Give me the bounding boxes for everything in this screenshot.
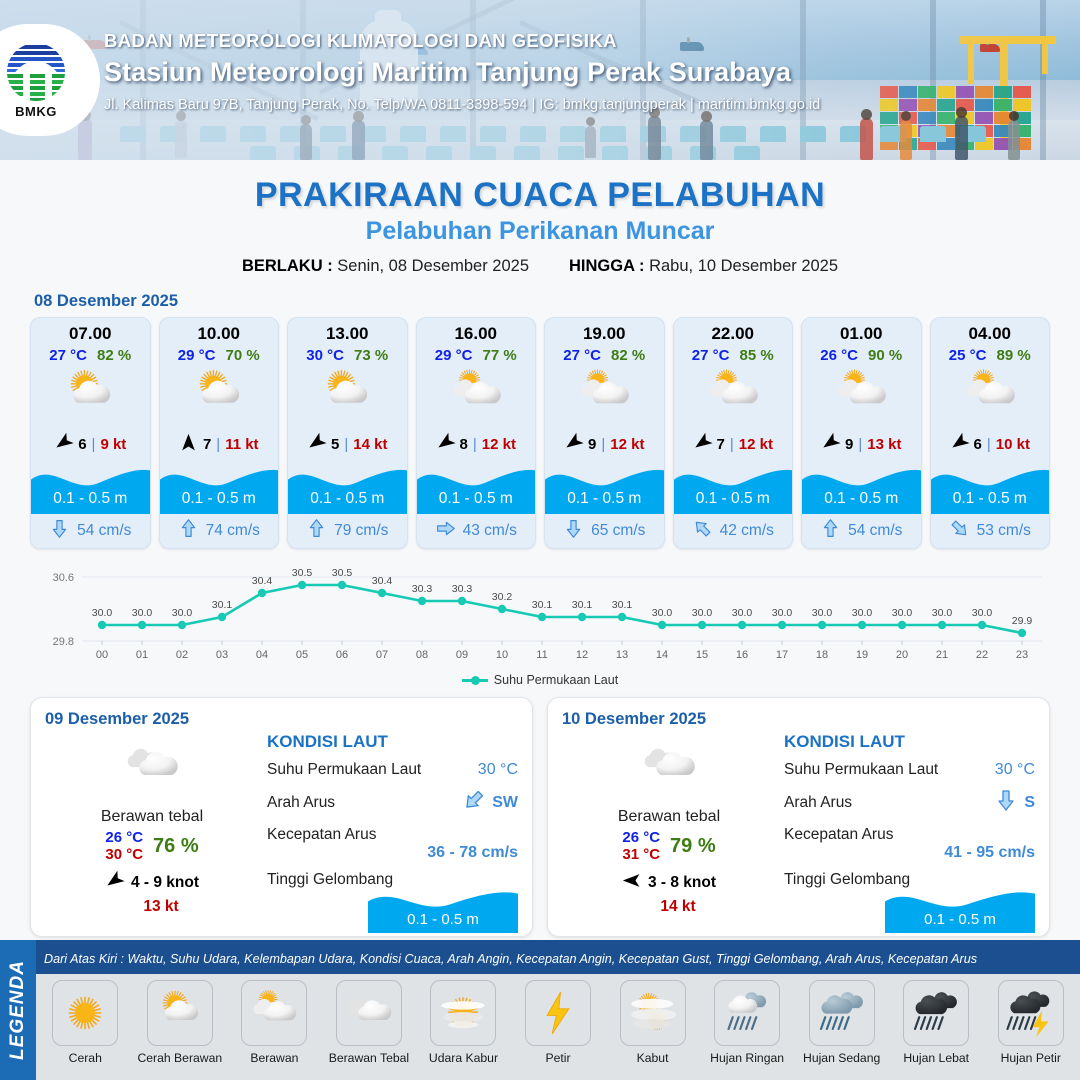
legend-item-label: Hujan Sedang: [803, 1051, 880, 1065]
svg-text:29.9: 29.9: [1012, 615, 1033, 627]
daily-humidity: 79 %: [670, 835, 716, 858]
svg-text:30.0: 30.0: [132, 607, 153, 619]
svg-text:30.2: 30.2: [492, 591, 513, 603]
current-direction-arrow-icon: [820, 518, 841, 544]
card-temp-hum: 26 °C 90 %: [802, 344, 921, 364]
sst-label: Suhu Permukaan Laut: [784, 761, 938, 779]
svg-text:30.3: 30.3: [412, 583, 433, 595]
card-wind-row: 9 | 13 kt: [802, 426, 921, 462]
legend-item: Hujan Sedang: [796, 980, 887, 1065]
card-wind-speed: 5: [331, 436, 339, 453]
card-time: 10.00: [160, 318, 279, 344]
card-wave: 0.1 - 0.5 m: [674, 462, 793, 514]
svg-text:29.8: 29.8: [53, 636, 74, 648]
card-current-speed: 42 cm/s: [720, 522, 774, 540]
svg-text:02: 02: [176, 649, 188, 661]
title-block: PRAKIRAAN CUACA PELABUHAN Pelabuhan Peri…: [0, 176, 1080, 276]
cerah-berawan-icon: [160, 364, 279, 426]
card-time: 19.00: [545, 318, 664, 344]
chart-legend-label: Suhu Permukaan Laut: [494, 673, 618, 687]
card-time: 07.00: [31, 318, 150, 344]
berawan-tebal-icon: [47, 736, 257, 798]
card-current-row: 54 cm/s: [802, 514, 921, 548]
card-current-row: 54 cm/s: [31, 514, 150, 548]
daily-temp-max: 30 °C: [105, 846, 143, 863]
svg-text:13: 13: [616, 649, 628, 661]
daily-panel: 09 Desember 2025 Berawan tebal 26 °C 30 …: [30, 697, 533, 937]
svg-text:15: 15: [696, 649, 708, 661]
current-direction-row: Arah Arus S: [784, 788, 1035, 817]
sst-row: Suhu Permukaan Laut 30 °C: [267, 761, 518, 779]
daily-date: 09 Desember 2025: [45, 710, 518, 729]
daily-sea-conditions: KONDISI LAUT Suhu Permukaan Laut 30 °C A…: [784, 732, 1035, 933]
legend-item-label: Berawan: [250, 1051, 298, 1065]
svg-text:04: 04: [256, 649, 268, 661]
berawan-icon: [931, 364, 1050, 426]
svg-text:00: 00: [96, 649, 108, 661]
svg-text:30.0: 30.0: [972, 607, 993, 619]
hourly-card: 04.00 25 °C 89 % 6 | 10 kt: [930, 317, 1051, 549]
svg-text:30.0: 30.0: [92, 607, 113, 619]
card-gust: 12 kt: [610, 436, 644, 453]
card-wind-row: 7 | 11 kt: [160, 426, 279, 462]
daily-humidity: 76 %: [153, 835, 199, 858]
current-direction-value: S: [1024, 794, 1035, 812]
svg-text:30.0: 30.0: [852, 607, 873, 619]
card-temp-hum: 27 °C 82 %: [545, 344, 664, 364]
hourly-card: 22.00 27 °C 85 % 7 | 12 kt: [673, 317, 794, 549]
legend-item-label: Hujan Ringan: [710, 1051, 784, 1065]
legend-item: Cerah Berawan: [135, 980, 226, 1065]
daily-temp-min: 26 °C: [622, 829, 660, 846]
card-temp-hum: 27 °C 82 %: [31, 344, 150, 364]
legend-items-row: Cerah Cerah Berawan: [36, 974, 1080, 1080]
svg-text:30.0: 30.0: [892, 607, 913, 619]
petir-icon: [525, 980, 591, 1046]
sst-value: 30 °C: [478, 761, 518, 779]
card-current-row: 43 cm/s: [417, 514, 536, 548]
card-current-row: 53 cm/s: [931, 514, 1050, 548]
legend-note: Dari Atas Kiri : Waktu, Suhu Udara, Kele…: [40, 946, 1076, 972]
hujan-petir-icon: [998, 980, 1064, 1046]
card-time: 04.00: [931, 318, 1050, 344]
card-wind-separator: |: [858, 436, 862, 453]
card-current-speed: 74 cm/s: [206, 522, 260, 540]
current-speed-value: 36 - 78 cm/s: [427, 844, 518, 862]
svg-text:30.4: 30.4: [372, 575, 393, 587]
card-temperature: 29 °C: [178, 347, 216, 364]
hourly-card: 13.00 30 °C 73 % 5 | 14 kt: [287, 317, 408, 549]
card-wind-separator: |: [92, 436, 96, 453]
card-temp-hum: 30 °C 73 %: [288, 344, 407, 364]
svg-text:30.1: 30.1: [572, 599, 593, 611]
svg-text:30.1: 30.1: [212, 599, 233, 611]
card-current-speed: 54 cm/s: [77, 522, 131, 540]
legend-item-label: Hujan Petir: [1001, 1051, 1061, 1065]
card-wave: 0.1 - 0.5 m: [288, 462, 407, 514]
current-speed-row: Kecepatan Arus: [267, 826, 518, 844]
valid-to-value: Rabu, 10 Desember 2025: [649, 257, 838, 275]
card-gust: 12 kt: [482, 436, 516, 453]
daily-condition: Berawan tebal: [47, 808, 257, 826]
card-humidity: 82 %: [611, 347, 645, 364]
card-wind-separator: |: [987, 436, 991, 453]
hujan-sedang-icon: [809, 980, 875, 1046]
card-gust: 12 kt: [739, 436, 773, 453]
bmkg-logo-text: BMKG: [15, 104, 57, 119]
svg-text:08: 08: [416, 649, 428, 661]
card-wind-separator: |: [473, 436, 477, 453]
svg-text:07: 07: [376, 649, 388, 661]
svg-text:21: 21: [936, 649, 948, 661]
legend-item: Petir: [513, 980, 604, 1065]
card-temp-hum: 29 °C 70 %: [160, 344, 279, 364]
card-wave: 0.1 - 0.5 m: [417, 462, 536, 514]
current-direction-arrow-icon: [563, 518, 584, 544]
card-humidity: 90 %: [868, 347, 902, 364]
card-gust: 13 kt: [867, 436, 901, 453]
card-current-speed: 79 cm/s: [334, 522, 388, 540]
page-title: PRAKIRAAN CUACA PELABUHAN: [0, 176, 1080, 215]
sea-condition-title: KONDISI LAUT: [267, 732, 518, 752]
current-speed-value-row: 41 - 95 cm/s: [784, 844, 1035, 862]
card-humidity: 89 %: [996, 347, 1030, 364]
card-wave: 0.1 - 0.5 m: [160, 462, 279, 514]
card-wind-speed: 9: [588, 436, 596, 453]
card-temperature: 26 °C: [820, 347, 858, 364]
legend-item-label: Hujan Lebat: [903, 1051, 969, 1065]
sea-condition-title: KONDISI LAUT: [784, 732, 1035, 752]
daily-wave-box: 0.1 - 0.5 m: [885, 885, 1035, 933]
current-direction-arrow-icon: [692, 518, 713, 544]
legend-item-label: Cerah Berawan: [137, 1051, 222, 1065]
current-direction-arrow-icon: [435, 518, 456, 544]
valid-from-label: BERLAKU :: [242, 257, 333, 275]
hujan-lebat-icon: [903, 980, 969, 1046]
sst-row: Suhu Permukaan Laut 30 °C: [784, 761, 1035, 779]
daily-temp-max: 31 °C: [622, 846, 660, 863]
svg-text:20: 20: [896, 649, 908, 661]
current-direction-value-group: SW: [462, 788, 518, 817]
current-speed-value: 41 - 95 cm/s: [944, 844, 1035, 862]
card-temperature: 27 °C: [692, 347, 730, 364]
current-direction-arrow-icon: [994, 788, 1018, 817]
daily-wave-box: 0.1 - 0.5 m: [368, 885, 518, 933]
svg-text:03: 03: [216, 649, 228, 661]
station-name: Stasiun Meteorologi Maritim Tanjung Pera…: [104, 57, 820, 88]
wind-direction-arrow-icon: [307, 433, 326, 456]
card-wave-height: 0.1 - 0.5 m: [545, 490, 664, 508]
svg-text:19: 19: [856, 649, 868, 661]
daily-wind-row: 3 - 8 knot: [564, 871, 774, 895]
current-speed-value-row: 36 - 78 cm/s: [267, 844, 518, 862]
current-direction-arrow-icon: [49, 518, 70, 544]
bmkg-logo-mark: [5, 41, 67, 103]
card-wind-speed: 9: [845, 436, 853, 453]
daily-temp-min: 26 °C: [105, 829, 143, 846]
contact-line: Jl. Kalimas Baru 97B, Tanjung Perak, No.…: [104, 97, 820, 113]
valid-from: BERLAKU : Senin, 08 Desember 2025: [242, 257, 529, 276]
card-wind-row: 7 | 12 kt: [674, 426, 793, 462]
daily-gust: 14 kt: [564, 898, 774, 916]
current-direction-arrow-icon: [949, 518, 970, 544]
svg-text:23: 23: [1016, 649, 1028, 661]
berawan-icon: [417, 364, 536, 426]
card-wind-row: 6 | 9 kt: [31, 426, 150, 462]
card-wind-speed: 6: [974, 436, 982, 453]
berawan-tebal-icon: [564, 736, 774, 798]
card-wind-separator: |: [216, 436, 220, 453]
wind-direction-arrow-icon: [436, 433, 455, 456]
svg-text:30.1: 30.1: [612, 599, 633, 611]
card-wave: 0.1 - 0.5 m: [931, 462, 1050, 514]
card-temp-hum: 29 °C 77 %: [417, 344, 536, 364]
cerah-icon: [52, 980, 118, 1046]
hourly-card: 16.00 29 °C 77 % 8 | 12 kt: [416, 317, 537, 549]
hujan-ringan-icon: [714, 980, 780, 1046]
svg-text:30.4: 30.4: [252, 575, 273, 587]
svg-text:30.0: 30.0: [932, 607, 953, 619]
card-current-row: 79 cm/s: [288, 514, 407, 548]
card-gust: 10 kt: [996, 436, 1030, 453]
legend-item-label: Berawan Tebal: [329, 1051, 409, 1065]
card-current-row: 42 cm/s: [674, 514, 793, 548]
daily-wind-range: 3 - 8 knot: [648, 874, 716, 892]
daily-left-column: Berawan tebal 26 °C 30 °C 76 % 4 - 9 kno…: [47, 736, 257, 916]
card-wind-speed: 7: [717, 436, 725, 453]
card-gust: 14 kt: [353, 436, 387, 453]
card-current-row: 74 cm/s: [160, 514, 279, 548]
sst-value: 30 °C: [995, 761, 1035, 779]
header-text-block: BADAN METEOROLOGI KLIMATOLOGI DAN GEOFIS…: [104, 30, 820, 113]
legend-item-label: Udara Kabur: [429, 1051, 498, 1065]
kabut-icon: [620, 980, 686, 1046]
berawan-icon: [545, 364, 664, 426]
card-wind-row: 8 | 12 kt: [417, 426, 536, 462]
daily-date: 10 Desember 2025: [562, 710, 1035, 729]
sst-label: Suhu Permukaan Laut: [267, 761, 421, 779]
legend-item: Berawan: [229, 980, 320, 1065]
legend-strip: LEGENDA Dari Atas Kiri : Waktu, Suhu Uda…: [0, 940, 1080, 1080]
svg-text:12: 12: [576, 649, 588, 661]
svg-text:30.1: 30.1: [532, 599, 553, 611]
daily-wave-value: 0.1 - 0.5 m: [885, 911, 1035, 928]
card-time: 13.00: [288, 318, 407, 344]
daily-forecast-panels: 09 Desember 2025 Berawan tebal 26 °C 30 …: [0, 687, 1080, 937]
daily-temp-hum: 26 °C 31 °C 79 %: [564, 829, 774, 864]
card-humidity: 77 %: [482, 347, 516, 364]
svg-text:05: 05: [296, 649, 308, 661]
svg-text:14: 14: [656, 649, 668, 661]
wind-direction-arrow-icon: [54, 433, 73, 456]
card-wind-separator: |: [344, 436, 348, 453]
hourly-card: 07.00 27 °C 82 % 6 | 9 kt: [30, 317, 151, 549]
svg-text:16: 16: [736, 649, 748, 661]
current-direction-label: Arah Arus: [784, 794, 852, 812]
cerah-berawan-icon: [31, 364, 150, 426]
valid-to-label: HINGGA :: [569, 257, 644, 275]
current-direction-row: Arah Arus SW: [267, 788, 518, 817]
card-temperature: 29 °C: [435, 347, 473, 364]
svg-text:30.0: 30.0: [772, 607, 793, 619]
card-wave-height: 0.1 - 0.5 m: [31, 490, 150, 508]
daily-temp-hum: 26 °C 30 °C 76 %: [47, 829, 257, 864]
svg-text:30.5: 30.5: [332, 567, 353, 579]
svg-text:11: 11: [536, 649, 547, 661]
current-direction-value: SW: [492, 794, 518, 812]
svg-text:30.0: 30.0: [652, 607, 673, 619]
card-wave: 0.1 - 0.5 m: [545, 462, 664, 514]
daily-temp-range: 26 °C 31 °C: [622, 829, 660, 864]
card-humidity: 70 %: [225, 347, 259, 364]
card-wave-height: 0.1 - 0.5 m: [288, 490, 407, 508]
hourly-forecast-row: 07.00 27 °C 82 % 6 | 9 kt: [0, 317, 1080, 549]
card-wind-separator: |: [601, 436, 605, 453]
wind-direction-arrow-icon: [564, 433, 583, 456]
udara-kabur-icon: [430, 980, 496, 1046]
legend-item: Kabut: [607, 980, 698, 1065]
legend-item: Hujan Ringan: [702, 980, 793, 1065]
current-speed-label: Kecepatan Arus: [784, 826, 893, 844]
wind-direction-arrow-icon: [622, 871, 641, 895]
card-humidity: 85 %: [739, 347, 773, 364]
card-current-speed: 54 cm/s: [848, 522, 902, 540]
svg-text:10: 10: [496, 649, 508, 661]
page-header: BMKG BADAN METEOROLOGI KLIMATOLOGI DAN G…: [0, 0, 1080, 160]
legend-item: Cerah: [40, 980, 131, 1065]
daily-left-column: Berawan tebal 26 °C 31 °C 79 % 3 - 8 kno…: [564, 736, 774, 916]
card-wave: 0.1 - 0.5 m: [31, 462, 150, 514]
card-wind-row: 6 | 10 kt: [931, 426, 1050, 462]
legend-vertical-bar: LEGENDA: [0, 940, 36, 1080]
valid-from-value: Senin, 08 Desember 2025: [337, 257, 529, 275]
card-wind-row: 5 | 14 kt: [288, 426, 407, 462]
page-subtitle: Pelabuhan Perikanan Muncar: [0, 217, 1080, 246]
svg-text:30.5: 30.5: [292, 567, 313, 579]
current-direction-arrow-icon: [306, 518, 327, 544]
legend-item-label: Petir: [545, 1051, 570, 1065]
card-wave-height: 0.1 - 0.5 m: [931, 490, 1050, 508]
card-wind-speed: 8: [460, 436, 468, 453]
card-current-speed: 43 cm/s: [463, 522, 517, 540]
svg-text:01: 01: [136, 649, 148, 661]
card-temp-hum: 27 °C 85 %: [674, 344, 793, 364]
card-humidity: 82 %: [97, 347, 131, 364]
card-current-speed: 65 cm/s: [591, 522, 645, 540]
sst-chart: 30.629.800010203040506070809101112131415…: [30, 561, 1050, 671]
svg-text:30.0: 30.0: [692, 607, 713, 619]
valid-to: HINGGA : Rabu, 10 Desember 2025: [569, 257, 838, 276]
card-current-row: 65 cm/s: [545, 514, 664, 548]
card-wave: 0.1 - 0.5 m: [802, 462, 921, 514]
svg-text:18: 18: [816, 649, 828, 661]
chart-legend-swatch: [462, 679, 488, 682]
daily-temp-range: 26 °C 30 °C: [105, 829, 143, 864]
svg-text:30.6: 30.6: [53, 572, 74, 584]
card-temperature: 30 °C: [306, 347, 344, 364]
legend-item: Berawan Tebal: [324, 980, 415, 1065]
card-wave-height: 0.1 - 0.5 m: [160, 490, 279, 508]
daily-panel: 10 Desember 2025 Berawan tebal 26 °C 31 …: [547, 697, 1050, 937]
card-time: 22.00: [674, 318, 793, 344]
legend-title: LEGENDA: [7, 960, 29, 1060]
card-wind-speed: 7: [203, 436, 211, 453]
svg-text:30.0: 30.0: [812, 607, 833, 619]
hourly-card: 10.00 29 °C 70 % 7 | 11 kt: [159, 317, 280, 549]
agency-name: BADAN METEOROLOGI KLIMATOLOGI DAN GEOFIS…: [104, 30, 820, 52]
berawan-icon: [674, 364, 793, 426]
svg-text:30.3: 30.3: [452, 583, 473, 595]
current-speed-row: Kecepatan Arus: [784, 826, 1035, 844]
legend-item: Udara Kabur: [418, 980, 509, 1065]
daily-condition: Berawan tebal: [564, 808, 774, 826]
legend-item-label: Kabut: [637, 1051, 669, 1065]
cerah-berawan-icon: [288, 364, 407, 426]
legend-item: Hujan Petir: [985, 980, 1076, 1065]
daily-gust: 13 kt: [47, 898, 257, 916]
berawan-icon: [241, 980, 307, 1046]
chart-legend: Suhu Permukaan Laut: [0, 673, 1080, 687]
svg-text:30.0: 30.0: [732, 607, 753, 619]
legend-item-label: Cerah: [69, 1051, 102, 1065]
svg-text:17: 17: [776, 649, 788, 661]
wind-direction-arrow-icon: [693, 433, 712, 456]
card-gust: 11 kt: [225, 436, 258, 453]
daily-wave-value: 0.1 - 0.5 m: [368, 911, 518, 928]
card-wave-height: 0.1 - 0.5 m: [674, 490, 793, 508]
current-direction-arrow-icon: [178, 518, 199, 544]
daily-wind-range: 4 - 9 knot: [131, 874, 199, 892]
card-temperature: 27 °C: [49, 347, 87, 364]
card-humidity: 73 %: [354, 347, 388, 364]
card-time: 16.00: [417, 318, 536, 344]
berawan-icon: [802, 364, 921, 426]
card-wind-speed: 6: [78, 436, 86, 453]
validity-row: BERLAKU : Senin, 08 Desember 2025 HINGGA…: [0, 257, 1080, 276]
hourly-card: 01.00 26 °C 90 % 9 | 13 kt: [801, 317, 922, 549]
current-direction-label: Arah Arus: [267, 794, 335, 812]
svg-text:06: 06: [336, 649, 348, 661]
wind-direction-arrow-icon: [105, 871, 124, 895]
card-temperature: 25 °C: [949, 347, 987, 364]
card-current-speed: 53 cm/s: [977, 522, 1031, 540]
svg-text:09: 09: [456, 649, 468, 661]
cerah-berawan-icon: [147, 980, 213, 1046]
card-temperature: 27 °C: [563, 347, 601, 364]
card-temp-hum: 25 °C 89 %: [931, 344, 1050, 364]
daily-wind-row: 4 - 9 knot: [47, 871, 257, 895]
card-gust: 9 kt: [100, 436, 126, 453]
current-direction-arrow-icon: [462, 788, 486, 817]
daily-sea-conditions: KONDISI LAUT Suhu Permukaan Laut 30 °C A…: [267, 732, 518, 933]
wind-direction-arrow-icon: [179, 433, 198, 456]
current-direction-value-group: S: [994, 788, 1035, 817]
card-time: 01.00: [802, 318, 921, 344]
card-wind-separator: |: [730, 436, 734, 453]
svg-text:30.0: 30.0: [172, 607, 193, 619]
sst-chart-svg: 30.629.800010203040506070809101112131415…: [30, 561, 1050, 671]
card-wave-height: 0.1 - 0.5 m: [417, 490, 536, 508]
current-speed-label: Kecepatan Arus: [267, 826, 376, 844]
hourly-date-label: 08 Desember 2025: [34, 292, 1080, 311]
svg-text:22: 22: [976, 649, 988, 661]
wind-direction-arrow-icon: [950, 433, 969, 456]
card-wind-row: 9 | 12 kt: [545, 426, 664, 462]
hourly-card: 19.00 27 °C 82 % 9 | 12 kt: [544, 317, 665, 549]
card-wave-height: 0.1 - 0.5 m: [802, 490, 921, 508]
berawan-tebal-icon: [336, 980, 402, 1046]
wind-direction-arrow-icon: [821, 433, 840, 456]
